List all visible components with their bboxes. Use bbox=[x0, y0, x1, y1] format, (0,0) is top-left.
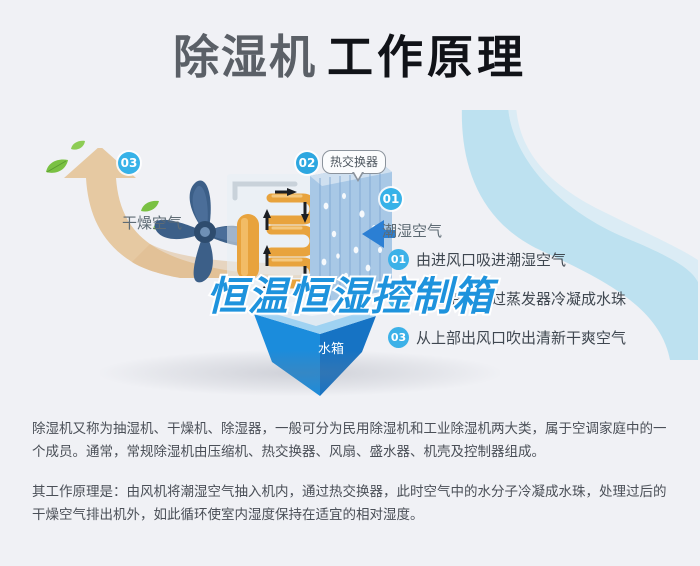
callout-tail-icon bbox=[352, 172, 364, 182]
dry-air-label: 干燥空气 bbox=[122, 212, 182, 233]
humid-air-badge: 01 bbox=[380, 188, 402, 210]
heat-exchanger-callout: 热交换器 bbox=[322, 150, 386, 174]
leaf-icon bbox=[44, 158, 70, 176]
leaf-icon bbox=[70, 140, 86, 152]
heat-exchanger-badge: 02 bbox=[296, 152, 318, 174]
watermark: 恒温恒湿控制箱 bbox=[0, 264, 700, 322]
infographic-page: 除湿机工作原理 bbox=[0, 0, 700, 566]
paragraph-text: 其工作原理是：由风机将潮湿空气抽入机内，通过热交换器，此时空气中的水分子冷凝成水… bbox=[32, 481, 672, 527]
list-item: 03 从上部出风口吹出清新干爽空气 bbox=[388, 326, 678, 348]
step-badge: 03 bbox=[388, 327, 409, 348]
step-text: 从上部出风口吹出清新干爽空气 bbox=[416, 327, 626, 348]
paragraph-text: 除湿机又称为抽湿机、干燥机、除湿器，一般可分为民用除湿机和工业除湿机两大类，属于… bbox=[32, 418, 672, 464]
body-copy: 除湿机又称为抽湿机、干燥机、除湿器，一般可分为民用除湿机和工业除湿机两大类，属于… bbox=[32, 418, 672, 544]
paragraph: 除湿机又称为抽湿机、干燥机、除湿器，一般可分为民用除湿机和工业除湿机两大类，属于… bbox=[32, 418, 672, 464]
page-title-part1: 除湿机 bbox=[173, 30, 317, 84]
page-title: 除湿机工作原理 bbox=[0, 28, 700, 86]
water-tank-label: 水箱 bbox=[318, 338, 344, 357]
dehumidifier-machine bbox=[150, 140, 410, 380]
humid-air-label: 潮湿空气 bbox=[382, 220, 442, 241]
paragraph: 其工作原理是：由风机将潮湿空气抽入机内，通过热交换器，此时空气中的水分子冷凝成水… bbox=[32, 481, 672, 527]
page-title-part2: 工作原理 bbox=[327, 30, 527, 84]
dry-air-badge: 03 bbox=[118, 152, 140, 174]
